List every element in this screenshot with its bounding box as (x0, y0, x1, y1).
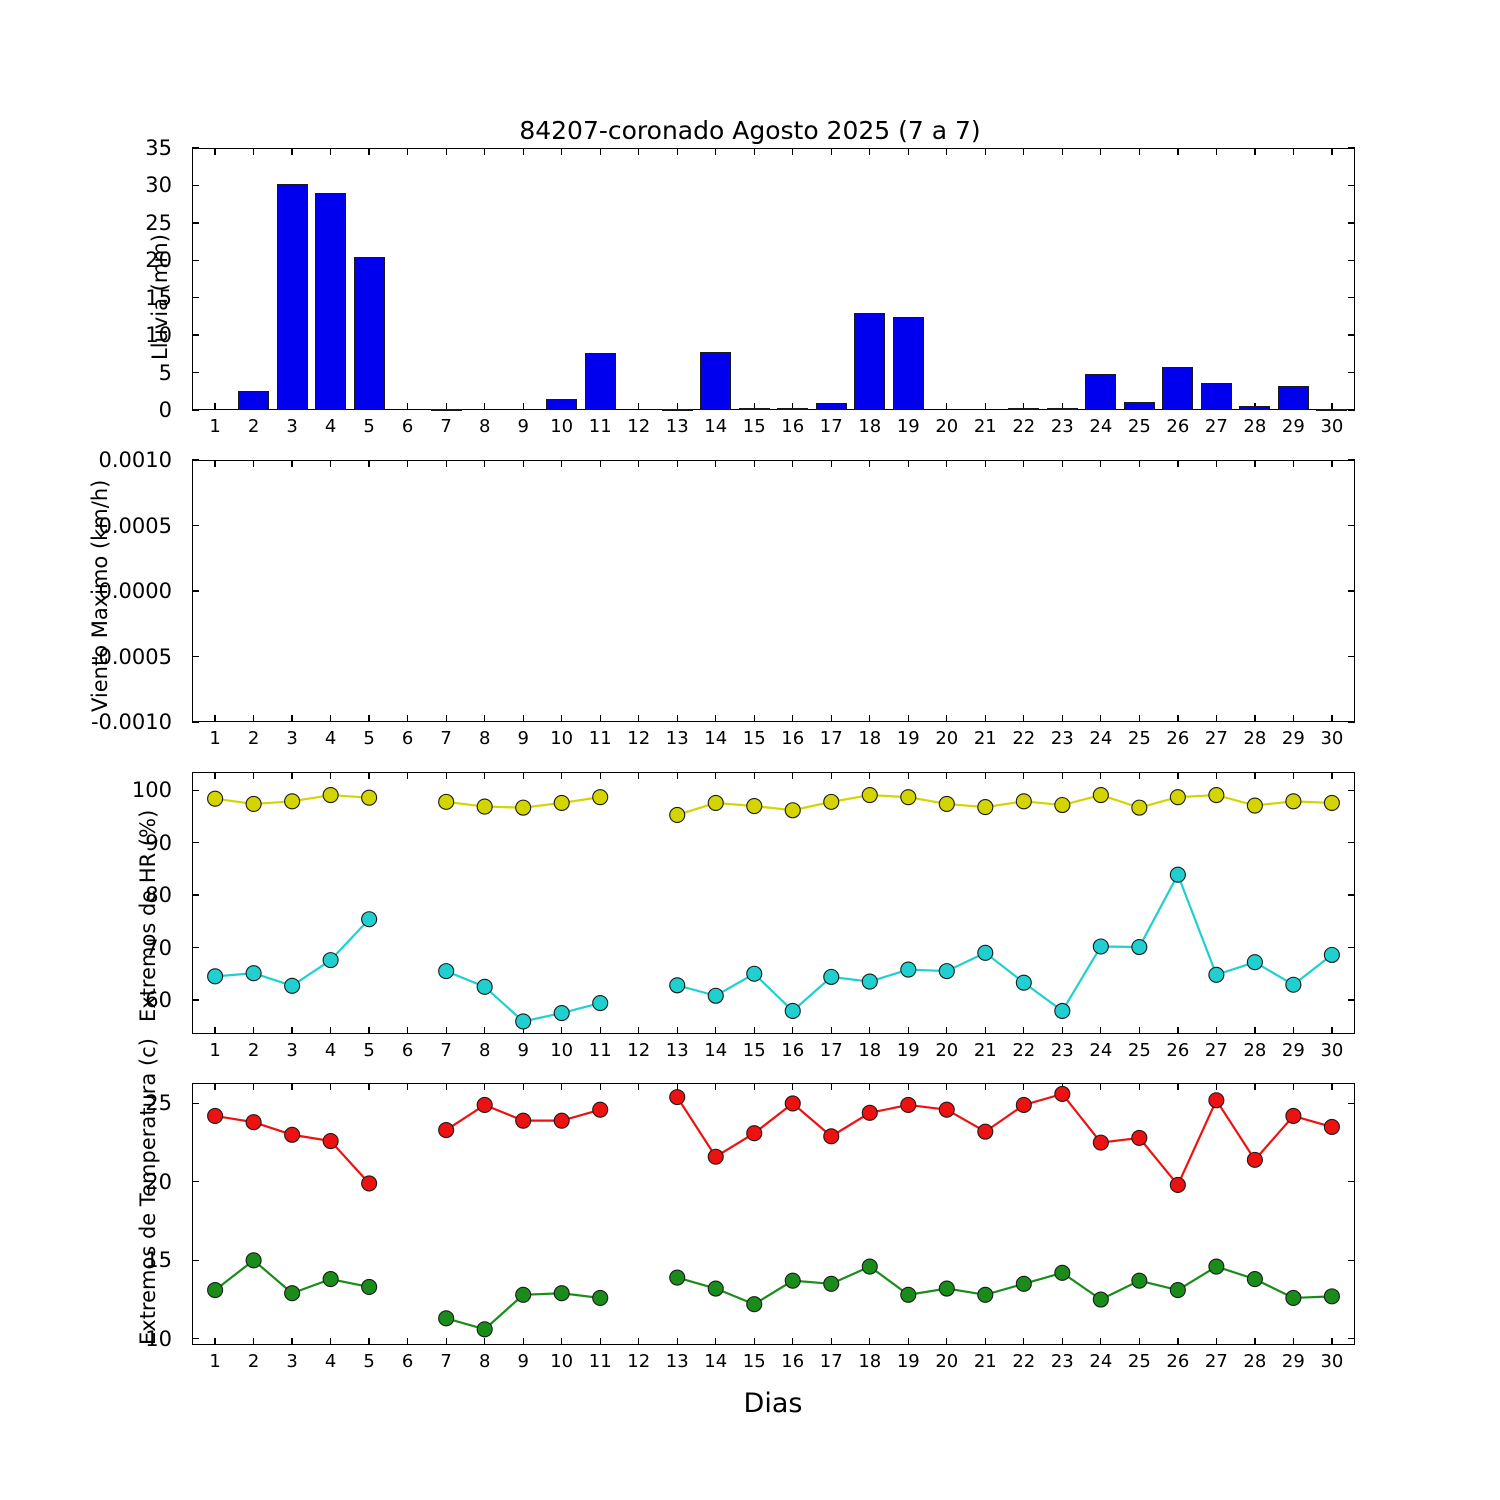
series-marker (978, 1124, 993, 1139)
series-marker (670, 1270, 685, 1285)
series-marker (439, 1311, 454, 1326)
series-marker (901, 1287, 916, 1302)
series-line (677, 1267, 1332, 1305)
series-marker (323, 1134, 338, 1149)
series-marker (477, 1097, 492, 1112)
series-marker (747, 1126, 762, 1141)
series-marker (670, 1090, 685, 1105)
series-marker (708, 1149, 723, 1164)
series-marker (246, 1253, 261, 1268)
series-marker (1016, 1097, 1031, 1112)
series-marker (285, 1286, 300, 1301)
series-marker (554, 1113, 569, 1128)
series-marker (1286, 1108, 1301, 1123)
series-marker (1247, 1152, 1262, 1167)
series-marker (1324, 1119, 1339, 1134)
temperatura-series (0, 0, 1500, 1500)
series-marker (362, 1176, 377, 1191)
series-marker (862, 1259, 877, 1274)
series-marker (1093, 1135, 1108, 1150)
series-marker (901, 1097, 916, 1112)
series-line (215, 1116, 369, 1183)
series-marker (1132, 1130, 1147, 1145)
series-marker (939, 1281, 954, 1296)
series-marker (785, 1273, 800, 1288)
series-marker (285, 1127, 300, 1142)
series-marker (785, 1096, 800, 1111)
series-line (677, 1094, 1332, 1185)
series-marker (554, 1286, 569, 1301)
series-marker (1132, 1273, 1147, 1288)
series-marker (208, 1283, 223, 1298)
series-marker (593, 1290, 608, 1305)
series-marker (516, 1113, 531, 1128)
series-marker (939, 1102, 954, 1117)
series-marker (978, 1287, 993, 1302)
series-marker (516, 1287, 531, 1302)
xlabel-dias: Dias (744, 1388, 803, 1419)
series-marker (362, 1279, 377, 1294)
series-marker (477, 1322, 492, 1337)
series-marker (1170, 1177, 1185, 1192)
series-marker (747, 1297, 762, 1312)
weather-figure: 84207-coronado Agosto 2025 (7 a 7) Lluvi… (0, 0, 1500, 1500)
series-marker (824, 1129, 839, 1144)
series-marker (246, 1115, 261, 1130)
series-temperatura-maxima (208, 1086, 1340, 1192)
series-marker (708, 1281, 723, 1296)
series-marker (1055, 1086, 1070, 1101)
series-marker (1170, 1283, 1185, 1298)
series-marker (862, 1105, 877, 1120)
series-marker (593, 1102, 608, 1117)
series-marker (208, 1108, 223, 1123)
series-marker (824, 1276, 839, 1291)
series-marker (1286, 1290, 1301, 1305)
series-marker (439, 1123, 454, 1138)
series-marker (1209, 1093, 1224, 1108)
series-marker (1247, 1272, 1262, 1287)
series-marker (1055, 1265, 1070, 1280)
series-marker (1209, 1259, 1224, 1274)
series-marker (1324, 1289, 1339, 1304)
series-marker (1016, 1276, 1031, 1291)
series-marker (323, 1272, 338, 1287)
series-temperatura-minima (208, 1253, 1340, 1337)
series-marker (1093, 1292, 1108, 1307)
